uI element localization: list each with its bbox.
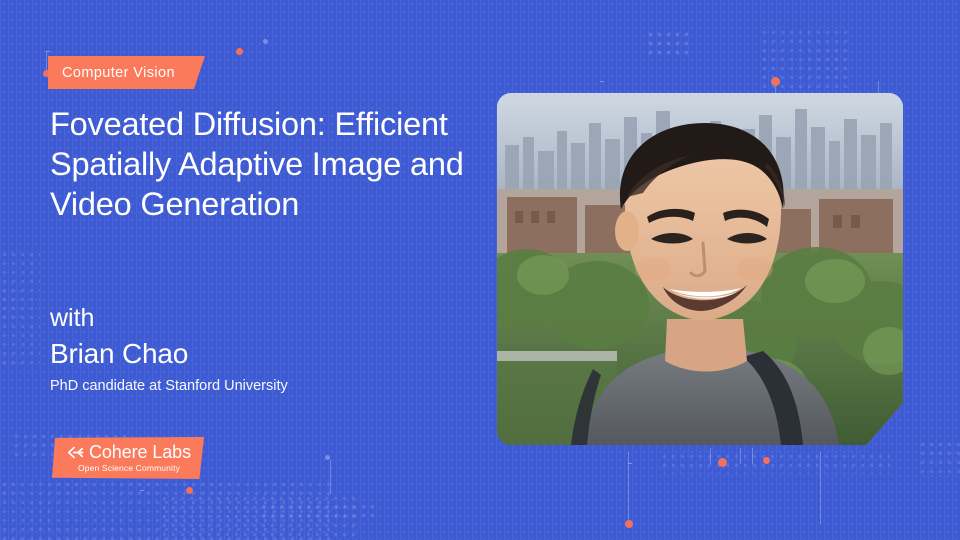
speaker-with-label: with (50, 302, 288, 335)
logo-name: Cohere Labs (89, 443, 191, 462)
decor-vertical-tick-bottom-mid-c (710, 448, 711, 464)
decor-dashed-line-bottom-right-bottom (628, 524, 820, 525)
decor-accent-dot-bottom-center (718, 458, 727, 467)
logo-row: Cohere Labs (67, 443, 191, 462)
cohere-arrow-mark-icon (67, 445, 84, 460)
decor-white-dot-top (263, 39, 268, 44)
decor-dot-grid-left (0, 250, 40, 370)
decor-vertical-tick-bottom-mid-b (752, 448, 753, 464)
event-slide: Computer Vision Foveated Diffusion: Effi… (0, 0, 960, 540)
decor-dashed-line-bottom-right-top (628, 463, 820, 464)
speaker-role: PhD candidate at Stanford University (50, 375, 288, 397)
decor-accent-dot-top-left (236, 48, 243, 55)
decor-dot-grid-bottom-center (160, 494, 360, 540)
decor-accent-dot-top-right (771, 77, 780, 86)
decor-vertical-tick-bottom-left (330, 460, 331, 494)
topic-badge: Computer Vision (48, 56, 205, 89)
speaker-photo (497, 93, 903, 445)
decor-vertical-tick-top-left (46, 51, 47, 73)
decor-dot-grid-top-right-b (760, 28, 850, 98)
decor-accent-dot-logo-right (186, 487, 193, 494)
speaker-name: Brian Chao (50, 335, 288, 372)
decor-dot-grid-top-right-a (646, 30, 692, 58)
decor-vertical-line-bottom-right-left (628, 452, 629, 524)
logo-tagline: Open Science Community (78, 463, 180, 474)
page-title: Foveated Diffusion: Efficient Spatially … (50, 104, 520, 224)
decor-vertical-line-bottom-right-right (820, 452, 821, 524)
decor-accent-dot-bottom-right (763, 457, 770, 464)
decor-white-dot-bottom (325, 455, 330, 460)
decor-dashed-line-bottom-left (140, 490, 335, 491)
decor-dot-grid-bottom-strip (260, 502, 380, 522)
cohere-labs-logo: Cohere Labs Open Science Community (52, 437, 204, 479)
decor-accent-dot-bottom-left-corner (625, 520, 633, 528)
decor-dot-grid-bottom-right-b (918, 440, 960, 476)
speaker-block: with Brian Chao PhD candidate at Stanfor… (50, 302, 288, 397)
decor-vertical-tick-bottom-mid-a (740, 448, 741, 464)
topic-badge-label: Computer Vision (62, 65, 175, 81)
decor-dashed-line-top-right (600, 81, 900, 82)
decor-dashed-line-top-left (46, 51, 246, 52)
speaker-photo-image (497, 93, 903, 445)
decor-dot-grid-bottom-right-a (660, 452, 890, 474)
decor-dot-grid-bottom-left-b (0, 480, 330, 540)
